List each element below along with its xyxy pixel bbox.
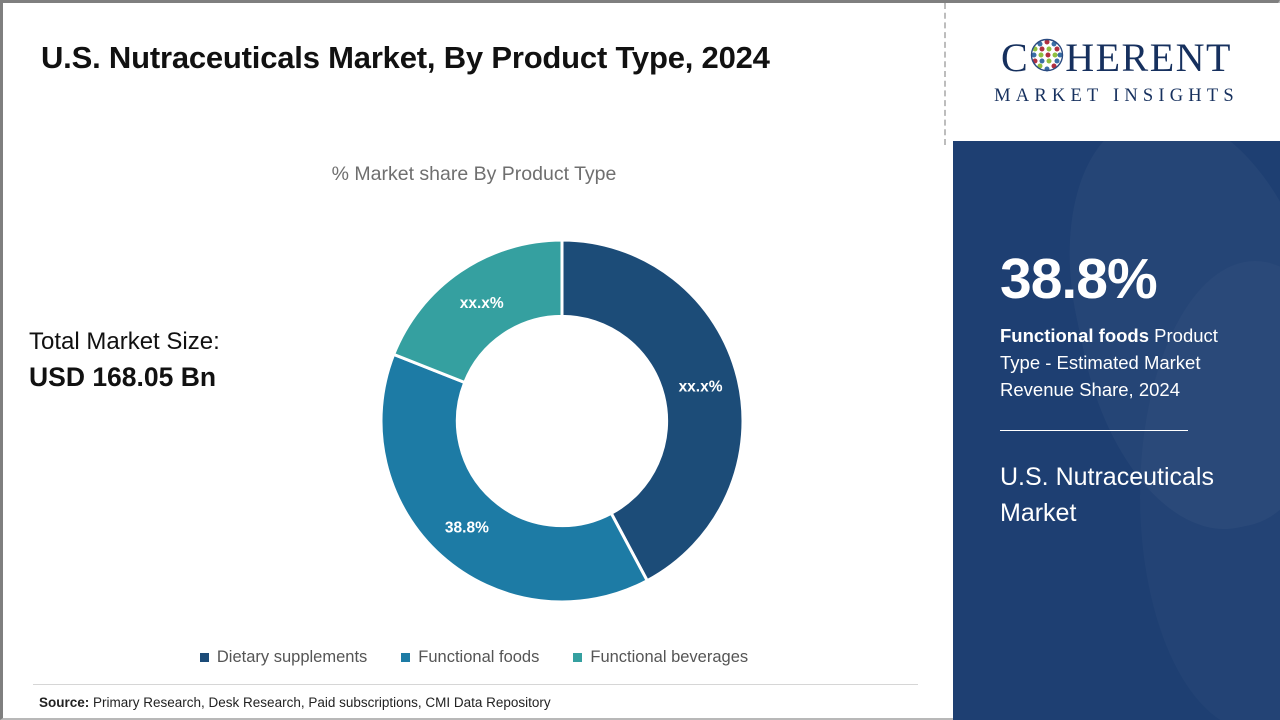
source-label: Source: bbox=[39, 695, 89, 710]
logo-tagline: MARKET INSIGHTS bbox=[994, 86, 1239, 107]
legend-item[interactable]: Functional foods bbox=[401, 648, 539, 667]
donut-chart-svg: xx.x%38.8%xx.x% bbox=[380, 239, 744, 603]
globe-icon bbox=[1030, 38, 1064, 79]
stat-panel: 38.8% Functional foods Product Type - Es… bbox=[953, 141, 1280, 720]
page-title: U.S. Nutraceuticals Market, By Product T… bbox=[41, 33, 861, 83]
donut-slice-label: 38.8% bbox=[445, 520, 489, 537]
donut-slice bbox=[381, 354, 647, 602]
chart-subtitle: % Market share By Product Type bbox=[3, 163, 945, 186]
stat-highlight: Functional foods bbox=[1000, 325, 1149, 346]
panel-market-name: U.S. Nutraceuticals Market bbox=[1000, 459, 1240, 532]
logo-letters-herent: HERENT bbox=[1065, 38, 1232, 78]
legend-item[interactable]: Dietary supplements bbox=[200, 648, 367, 667]
legend-label: Functional foods bbox=[418, 648, 539, 667]
total-market-value: USD 168.05 Bn bbox=[29, 359, 329, 397]
logo-wordmark: C bbox=[1001, 38, 1232, 79]
donut-chart: xx.x%38.8%xx.x% bbox=[380, 239, 744, 603]
legend-swatch-icon bbox=[401, 653, 410, 662]
sidebar: C bbox=[953, 3, 1280, 720]
legend-swatch-icon bbox=[573, 653, 582, 662]
source-divider bbox=[33, 684, 918, 685]
legend-label: Dietary supplements bbox=[217, 648, 367, 667]
logo-letter-c: C bbox=[1001, 38, 1029, 78]
legend-item[interactable]: Functional beverages bbox=[573, 648, 748, 667]
donut-slice-label: xx.x% bbox=[679, 378, 723, 395]
donut-slices bbox=[381, 240, 743, 602]
legend-swatch-icon bbox=[200, 653, 209, 662]
stat-value: 38.8% bbox=[1000, 251, 1280, 308]
vertical-dashed-divider bbox=[944, 3, 946, 145]
panel-divider bbox=[1000, 430, 1188, 432]
chart-legend: Dietary supplementsFunctional foodsFunct… bbox=[3, 648, 945, 667]
brand-logo: C bbox=[953, 3, 1280, 141]
total-market-size: Total Market Size: USD 168.05 Bn bbox=[29, 325, 329, 397]
stat-description: Functional foods Product Type - Estimate… bbox=[1000, 322, 1250, 404]
source-note: Source: Primary Research, Desk Research,… bbox=[39, 695, 551, 710]
total-market-label: Total Market Size: bbox=[29, 325, 329, 359]
donut-slice-label: xx.x% bbox=[460, 295, 504, 312]
legend-label: Functional beverages bbox=[590, 648, 748, 667]
infographic-page: U.S. Nutraceuticals Market, By Product T… bbox=[0, 0, 1280, 720]
source-text: Primary Research, Desk Research, Paid su… bbox=[89, 695, 550, 710]
chart-panel: U.S. Nutraceuticals Market, By Product T… bbox=[3, 3, 945, 718]
